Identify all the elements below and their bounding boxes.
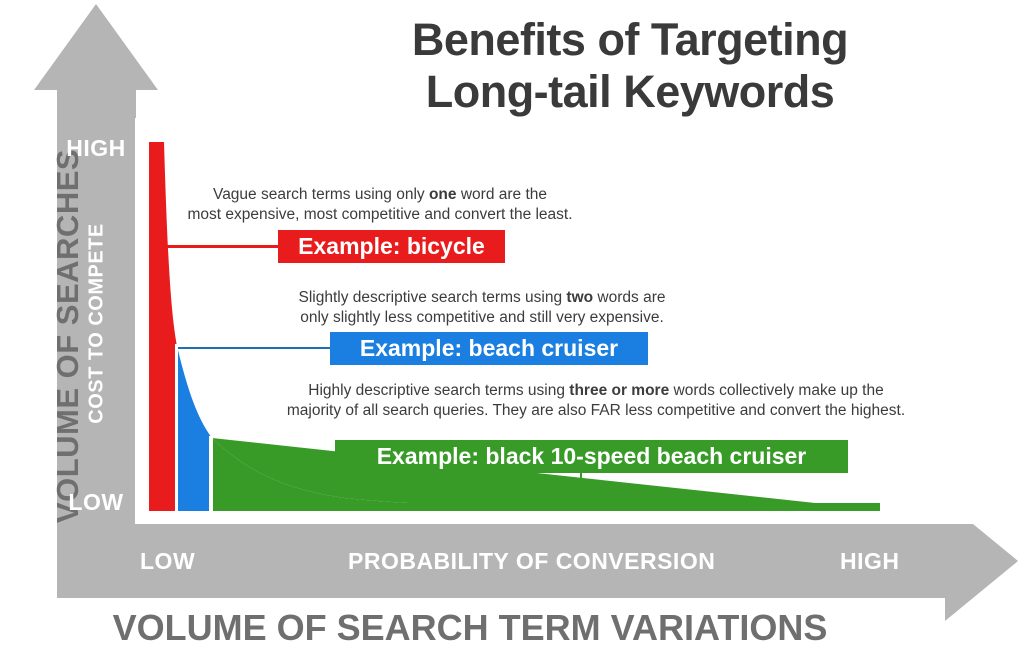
description-middle-line-1: Slightly descriptive search terms using … xyxy=(272,288,692,308)
description-head-emphasis: one xyxy=(429,186,457,203)
curve-segment-head xyxy=(149,142,177,511)
description-long-tail-line-1: Highly descriptive search terms using th… xyxy=(258,381,934,401)
example-chip-head[interactable]: Example: bicycle xyxy=(278,230,505,263)
example-chip-long-tail[interactable]: Example: black 10-speed beach cruiser xyxy=(335,440,848,473)
x-axis-outer-label: VOLUME OF SEARCH TERM VARIATIONS xyxy=(0,607,940,649)
description-long-tail-text-c: words collectively make up the xyxy=(669,382,884,399)
description-head: Vague search terms using only one word a… xyxy=(180,185,580,225)
description-head-line-1: Vague search terms using only one word a… xyxy=(180,185,580,205)
x-axis-tick-high: HIGH xyxy=(840,548,900,575)
description-long-tail-text-a: Highly descriptive search terms using xyxy=(308,382,569,399)
infographic-root: Benefits of Targeting Long-tail Keywords… xyxy=(0,0,1024,662)
page-title: Benefits of Targeting Long-tail Keywords xyxy=(330,14,930,118)
curve-head-divider xyxy=(175,344,178,511)
description-middle-emphasis: two xyxy=(566,289,593,306)
description-head-text-c: word are the xyxy=(457,186,547,203)
page-title-line-2: Long-tail Keywords xyxy=(330,66,930,118)
description-head-line-2: most expensive, most competitive and con… xyxy=(180,205,580,225)
y-axis-inner-label: COST TO COMPETE xyxy=(86,189,109,459)
y-axis-tick-high: HIGH xyxy=(48,135,144,162)
page-title-line-1: Benefits of Targeting xyxy=(330,14,930,66)
curve-segment-middle xyxy=(177,346,212,511)
description-long-tail-line-2: majority of all search queries. They are… xyxy=(258,401,934,421)
curve-middle-divider xyxy=(209,436,213,511)
description-middle-line-2: only slightly less competitive and still… xyxy=(272,308,692,328)
x-axis-tick-low: LOW xyxy=(140,548,195,575)
x-axis-inner-label: PROBABILITY OF CONVERSION xyxy=(348,548,715,575)
description-head-text-a: Vague search terms using only xyxy=(213,186,429,203)
curve-long-tail-baseline xyxy=(212,503,880,511)
example-chip-middle[interactable]: Example: beach cruiser xyxy=(330,332,648,365)
description-middle-text-a: Slightly descriptive search terms using xyxy=(299,289,567,306)
y-axis-tick-low: LOW xyxy=(48,489,144,516)
description-long-tail: Highly descriptive search terms using th… xyxy=(258,381,934,421)
leader-line-long-tail xyxy=(580,472,582,501)
description-long-tail-emphasis: three or more xyxy=(569,382,669,399)
description-middle: Slightly descriptive search terms using … xyxy=(272,288,692,328)
leader-line-middle xyxy=(178,347,332,349)
description-middle-text-c: words are xyxy=(593,289,665,306)
leader-line-head xyxy=(163,245,280,248)
